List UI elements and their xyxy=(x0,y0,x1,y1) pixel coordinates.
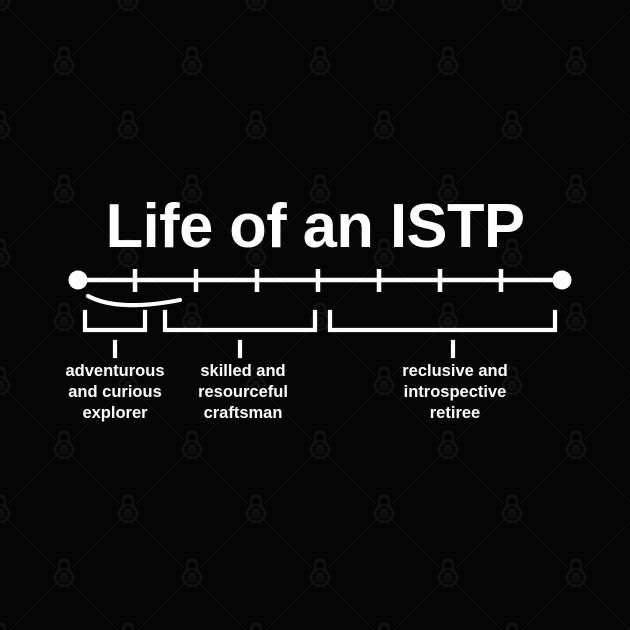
underline-swoosh xyxy=(88,296,180,305)
bracket-stage-craftsman xyxy=(165,312,315,356)
bracket-stage-explorer xyxy=(85,312,145,356)
poster-canvas: Life of an ISTP adventurous and curious … xyxy=(0,0,630,630)
timeline-artwork xyxy=(0,0,630,630)
timeline-end-dot xyxy=(553,271,572,290)
bracket-stage-retiree xyxy=(330,312,555,356)
timeline-start-dot xyxy=(69,271,88,290)
